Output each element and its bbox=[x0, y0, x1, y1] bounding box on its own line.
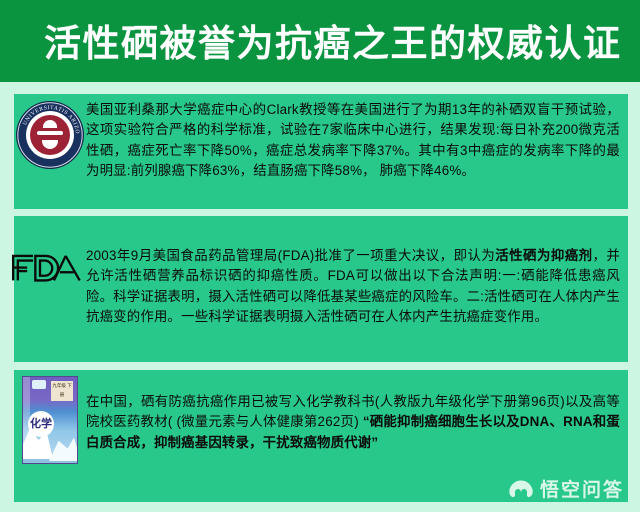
textbook-card-text: 在中国，硒有防癌抗癌作用已被写入化学教科书(人教版九年级化学下册第96页)以及高… bbox=[86, 370, 628, 457]
book-iceberg-right bbox=[49, 435, 78, 461]
page-header: 活性硒被誉为抗癌之王的权威认证 bbox=[0, 0, 640, 82]
seal-shield-base bbox=[42, 140, 58, 149]
textbook-logo-column: 九年级 下册 化学 bbox=[14, 370, 86, 464]
fda-logo-icon bbox=[12, 250, 82, 284]
arizona-logo-column: UNIVERSITATIS ARIZONENSIS 1885 bbox=[14, 94, 86, 168]
book-publisher-badge bbox=[32, 380, 46, 389]
evidence-card-fda: 2003年9月美国食品药品管理局(FDA)批准了一项重大决议，即认为活性硒为抑癌… bbox=[14, 216, 628, 362]
fda-logo-column bbox=[14, 216, 86, 284]
book-subject-title: 化学 bbox=[28, 411, 54, 437]
seal-shield bbox=[30, 115, 70, 155]
fda-body-text-part1: 2003年9月美国食品药品管理局(FDA)批准了一项重大决议，即认为 bbox=[86, 248, 495, 263]
arizona-body-text: 美国亚利桑那大学癌症中心的Clark教授等在美国进行了为期13年的补硒双盲干预试… bbox=[86, 102, 620, 178]
university-of-arizona-seal-icon: UNIVERSITATIS ARIZONENSIS 1885 bbox=[17, 102, 83, 168]
book-grade-label: 九年级 下册 bbox=[51, 381, 73, 401]
watermark: 悟空问答 bbox=[508, 475, 624, 502]
arizona-card-text: 美国亚利桑那大学癌症中心的Clark教授等在美国进行了为期13年的补硒双盲干预试… bbox=[86, 94, 628, 186]
fda-card-text: 2003年9月美国食品药品管理局(FDA)批准了一项重大决议，即认为活性硒为抑癌… bbox=[86, 216, 628, 332]
page-title: 活性硒被誉为抗癌之王的权威认证 bbox=[44, 20, 604, 68]
watermark-label: 悟空问答 bbox=[540, 475, 624, 502]
fda-body-text-bold: 活性硒为抑癌剂 bbox=[495, 248, 592, 263]
wukong-monkey-icon bbox=[508, 479, 534, 499]
chemistry-textbook-cover-image: 九年级 下册 化学 bbox=[22, 376, 78, 464]
evidence-card-arizona: UNIVERSITATIS ARIZONENSIS 1885 美国亚利桑那大学癌… bbox=[14, 94, 628, 209]
